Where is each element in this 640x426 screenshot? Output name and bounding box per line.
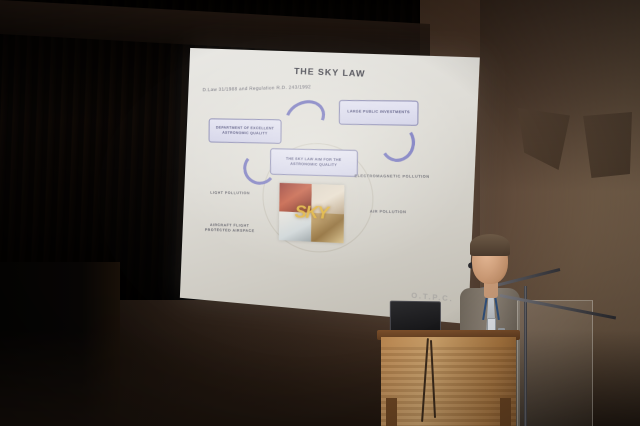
slide-label-electromagnetic-pollution: ELECTROMAGNETIC POLLUTION <box>340 174 444 181</box>
projection-screen: THE SKY LAW D.Law 31/1988 and Regulation… <box>180 48 480 324</box>
microphone-stand <box>524 286 527 426</box>
glass-lectern <box>517 300 593 426</box>
podium-wood-grain <box>381 347 516 426</box>
photo-collage <box>279 183 345 243</box>
podium-leg-right <box>500 398 511 426</box>
speaker-hair <box>470 234 510 256</box>
screenshot-root: THE SKY LAW D.Law 31/1988 and Regulation… <box>0 0 640 426</box>
curved-arrow-icon-1 <box>279 94 331 142</box>
photo-tile-1 <box>279 183 312 213</box>
curved-arrow-icon-2 <box>377 121 418 165</box>
diagram-box-investments: LARGE PUBLIC INVESTMENTS <box>339 100 419 126</box>
diagram-box-aim: THE SKY LAW AIM FOR THE ASTRONOMIC QUALI… <box>270 148 358 177</box>
photo-tile-2 <box>311 184 344 214</box>
photo-tile-4 <box>311 213 344 243</box>
presentation-slide: THE SKY LAW D.Law 31/1988 and Regulation… <box>180 48 480 324</box>
slide-subtitle: D.Law 31/1988 and Regulation R.D. 243/19… <box>202 82 399 93</box>
diagram-box-department: DEPARTMENT OF EXCELLENT ASTRONOMIC QUALI… <box>209 118 282 144</box>
slide-title: THE SKY LAW <box>189 62 479 83</box>
podium-leg-left <box>386 398 397 426</box>
slide-label-light-pollution: LIGHT POLLUTION <box>200 191 260 197</box>
slide-label-aircraft-flight: AIRCRAFT FLIGHT PROTECTED AIRSPACE <box>199 223 261 235</box>
photo-tile-3 <box>279 211 312 241</box>
